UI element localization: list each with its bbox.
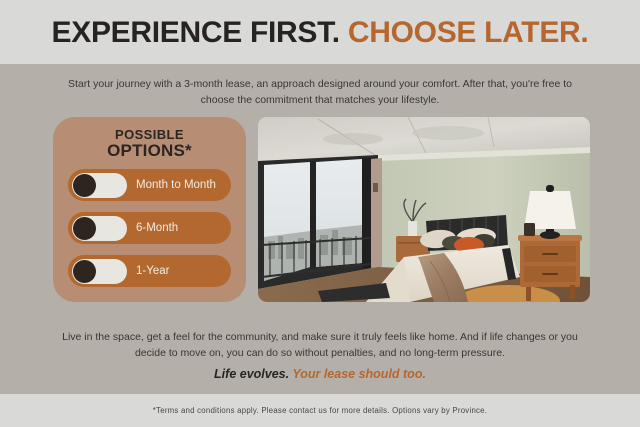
footer-band: *Terms and conditions apply. Please cont… [0,394,640,427]
toggle-knob-icon [73,260,96,283]
options-card-title: POSSIBLE OPTIONS* [63,128,236,160]
bedroom-photo [258,117,590,302]
toggle-switch-month-to-month[interactable] [72,173,127,198]
tagline: Life evolves. Your lease should too. [0,367,640,381]
footnote-disclaimer: *Terms and conditions apply. Please cont… [153,406,487,415]
page-title: EXPERIENCE FIRST. CHOOSE LATER. [52,18,589,48]
options-card-title-line1: POSSIBLE [63,128,236,142]
bedroom-photo-illustration [258,117,590,302]
body-paragraph: Live in the space, get a feel for the co… [56,329,584,362]
option-row-month-to-month[interactable]: Month to Month [68,169,231,201]
toggle-switch-1-year[interactable] [72,259,127,284]
option-row-1-year[interactable]: 1-Year [68,255,231,287]
toggle-knob-icon [73,217,96,240]
options-card-title-line2: OPTIONS* [63,142,236,160]
option-label: Month to Month [136,179,216,191]
tagline-accent: Your lease should too. [292,367,426,381]
option-label: 6-Month [136,222,178,234]
toggle-switch-6-month[interactable] [72,216,127,241]
options-card: POSSIBLE OPTIONS* Month to Month 6-Month… [53,117,246,302]
toggle-knob-icon [73,174,96,197]
headline-accent: CHOOSE LATER. [348,16,589,49]
headline-primary: EXPERIENCE FIRST. [52,16,340,49]
option-row-6-month[interactable]: 6-Month [68,212,231,244]
tagline-primary: Life evolves. [214,367,289,381]
intro-paragraph: Start your journey with a 3-month lease,… [62,76,578,109]
option-label: 1-Year [136,265,169,277]
header-band: EXPERIENCE FIRST. CHOOSE LATER. [0,0,640,64]
promo-poster: EXPERIENCE FIRST. CHOOSE LATER. Start yo… [0,0,640,427]
